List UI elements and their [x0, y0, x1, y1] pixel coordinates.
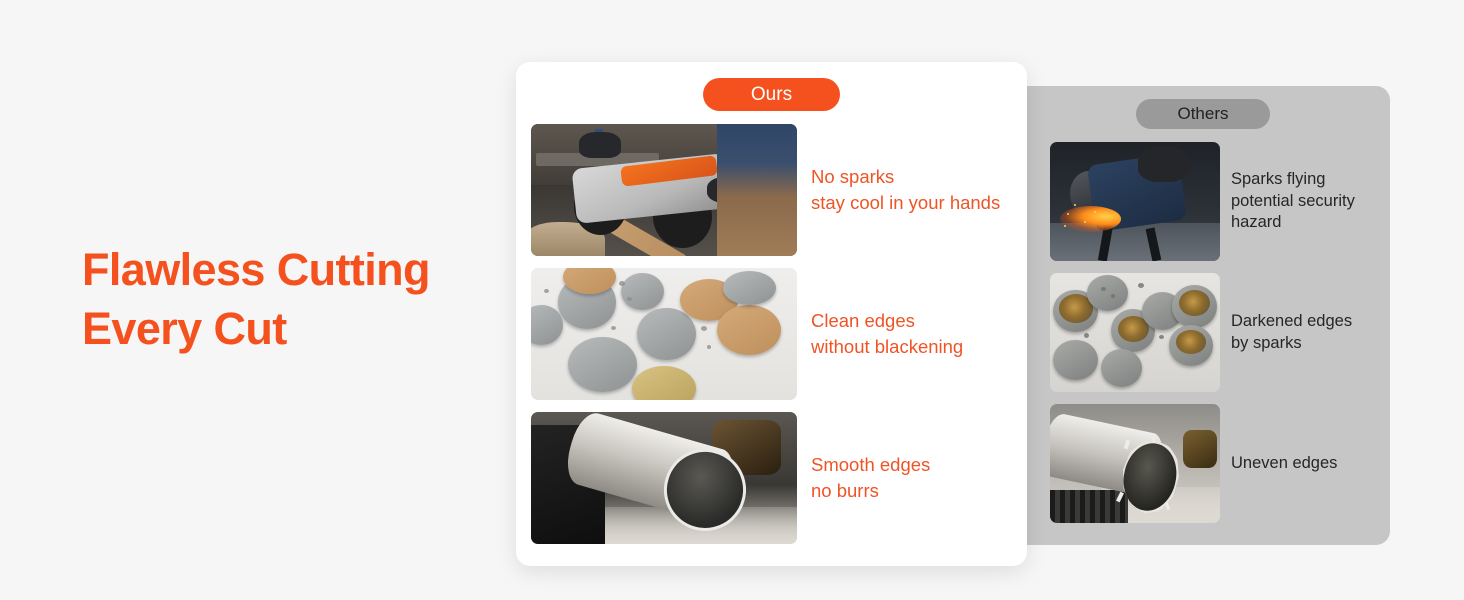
ours-row-clean-edges: Clean edges without blackening	[531, 268, 1021, 400]
clean-cut-discs-photo	[531, 268, 797, 400]
page-title: Flawless Cutting Every Cut	[82, 240, 430, 359]
darkened-discs-photo	[1050, 273, 1220, 392]
others-label-uneven: Uneven edges	[1231, 453, 1337, 475]
ours-label-no-sparks: No sparks stay cool in your hands	[811, 164, 1000, 215]
others-row-darkened: Darkened edges by sparks	[1050, 273, 1390, 392]
comparison-infographic: Flawless Cutting Every Cut Others	[0, 0, 1464, 600]
others-badge: Others	[1136, 99, 1270, 129]
ours-badge: Ours	[703, 78, 840, 111]
bandsaw-cutting-wood-photo	[531, 124, 797, 256]
ours-rows: No sparks stay cool in your hands	[531, 124, 1021, 556]
others-label-darkened: Darkened edges by sparks	[1231, 311, 1352, 355]
uneven-cut-pipe-photo	[1050, 404, 1220, 523]
others-rows: Sparks flying potential security hazard	[1050, 142, 1390, 535]
ours-label-clean-edges: Clean edges without blackening	[811, 308, 963, 359]
ours-row-no-sparks: No sparks stay cool in your hands	[531, 124, 1021, 256]
sparking-saw-photo	[1050, 142, 1220, 261]
others-row-uneven: Uneven edges	[1050, 404, 1390, 523]
others-label-sparks: Sparks flying potential security hazard	[1231, 169, 1355, 235]
others-row-sparks: Sparks flying potential security hazard	[1050, 142, 1390, 261]
smooth-cut-pipe-photo	[531, 412, 797, 544]
ours-row-smooth-edges: Smooth edges no burrs	[531, 412, 1021, 544]
ours-label-smooth-edges: Smooth edges no burrs	[811, 452, 930, 503]
